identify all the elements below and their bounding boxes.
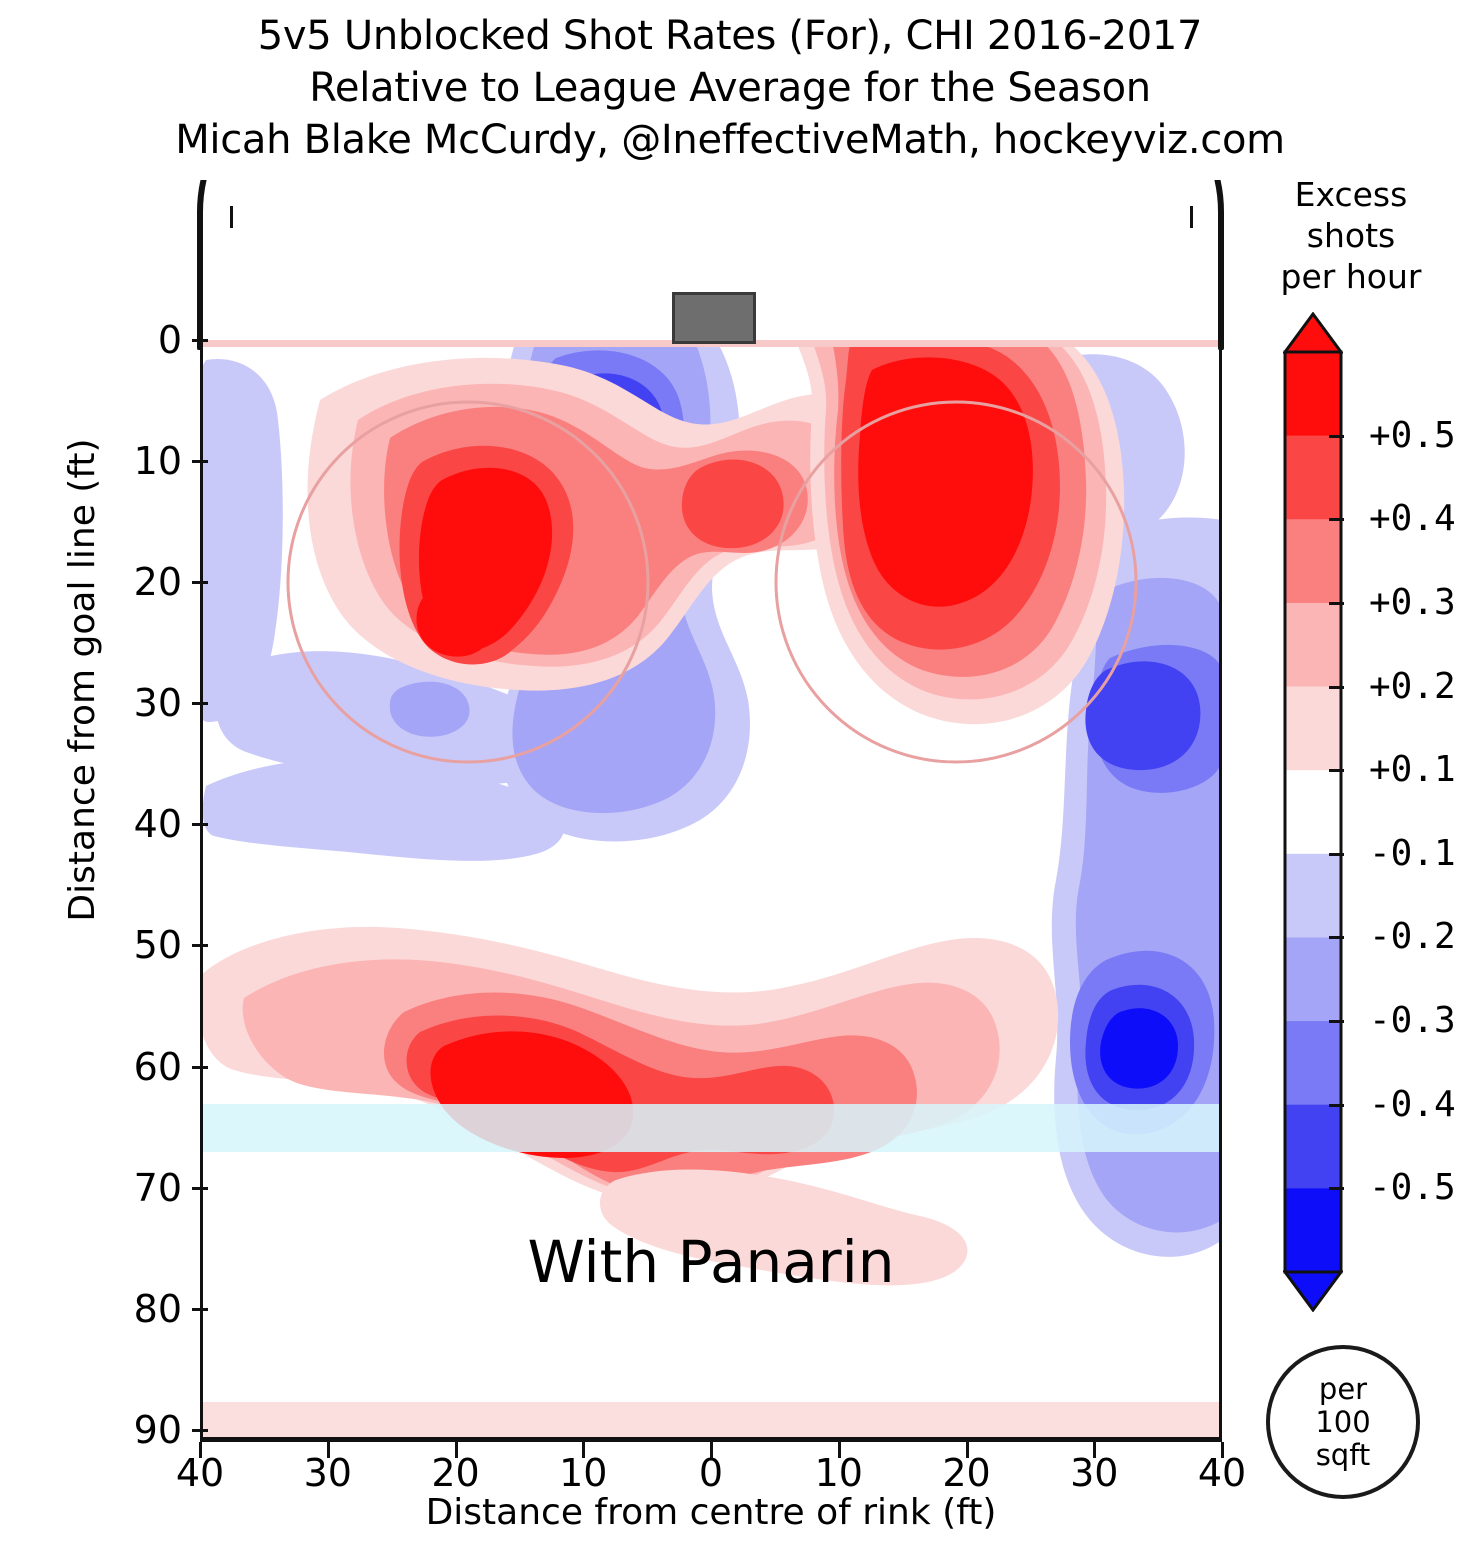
y-tick-mark <box>192 823 208 826</box>
y-tick-mark <box>192 460 208 463</box>
colorbar-band <box>1285 603 1341 687</box>
y-tick-label: 20 <box>120 563 182 601</box>
y-tick-label: 40 <box>120 805 182 843</box>
y-tick-mark <box>192 1187 208 1190</box>
colorbar-title: Excess shots per hour <box>1242 174 1460 297</box>
x-tick-mark <box>1221 1442 1224 1458</box>
badge-line1: per <box>1319 1373 1367 1406</box>
colorbar-band <box>1285 352 1341 436</box>
colorbar-extend-high <box>1285 314 1341 352</box>
colorbar-swatches <box>1283 312 1343 1312</box>
chart-title-line2: Relative to League Average for the Seaso… <box>0 62 1460 114</box>
colorbar-band <box>1285 1105 1341 1189</box>
colorbar-tick-label: +0.2 <box>1369 669 1456 705</box>
badge-line2: 100 <box>1315 1406 1370 1439</box>
x-tick-mark <box>1093 1442 1096 1458</box>
y-tick-label: 0 <box>120 321 182 359</box>
chart-title-block: 5v5 Unblocked Shot Rates (For), CHI 2016… <box>0 10 1460 166</box>
colorbar-title-line3: per hour <box>1242 256 1460 297</box>
y-tick-label: 80 <box>120 1290 182 1328</box>
x-tick-label: 10 <box>799 1454 879 1492</box>
y-tick-label: 90 <box>120 1411 182 1449</box>
colorbar-tick-label: +0.5 <box>1369 418 1456 454</box>
colorbar-title-line2: shots <box>1242 215 1460 256</box>
colorbar-band <box>1285 687 1341 771</box>
colorbar-tick-label: -0.3 <box>1369 1003 1456 1039</box>
colorbar-band <box>1285 436 1341 520</box>
contour-pos-4 <box>682 460 784 549</box>
y-tick-mark <box>192 339 208 342</box>
colorbar-tick-mark <box>1329 1187 1344 1190</box>
y-tick-mark <box>192 702 208 705</box>
colorbar-tick-mark <box>1329 686 1344 689</box>
colorbar-tick-mark <box>1329 1104 1344 1107</box>
colorbar-title-line1: Excess <box>1242 174 1460 215</box>
colorbar-tick-label: +0.4 <box>1369 501 1456 537</box>
x-tick-label: 40 <box>160 1454 240 1492</box>
colorbar-tick-mark <box>1329 518 1344 521</box>
per-100-sqft-badge: per 100 sqft <box>1266 1345 1420 1499</box>
y-tick-mark <box>192 944 208 947</box>
x-tick-label: 40 <box>1182 1454 1262 1492</box>
badge-line3: sqft <box>1316 1439 1371 1472</box>
colorbar: +0.5+0.4+0.3+0.2+0.1-0.1-0.2-0.3-0.4-0.5 <box>1283 312 1343 1316</box>
board-tick-left <box>230 206 233 228</box>
colorbar-tick-mark <box>1329 769 1344 772</box>
y-tick-label: 60 <box>120 1048 182 1086</box>
x-tick-mark <box>455 1442 458 1458</box>
blue-line <box>200 1104 1222 1152</box>
y-tick-mark <box>192 1429 208 1432</box>
colorbar-tick-label: -0.1 <box>1369 836 1456 872</box>
colorbar-tick-mark <box>1329 435 1344 438</box>
x-tick-mark <box>582 1442 585 1458</box>
colorbar-tick-mark <box>1329 853 1344 856</box>
chart-title-line3: Micah Blake McCurdy, @IneffectiveMath, h… <box>0 114 1460 166</box>
contour-neg-14 <box>1085 661 1200 770</box>
y-tick-mark <box>192 1308 208 1311</box>
x-tick-label: 20 <box>927 1454 1007 1492</box>
colorbar-band <box>1285 854 1341 938</box>
y-tick-label: 50 <box>120 926 182 964</box>
contour-pos-7 <box>416 583 494 657</box>
colorbar-tick-label: -0.4 <box>1369 1087 1456 1123</box>
x-axis-label: Distance from centre of rink (ft) <box>200 1492 1222 1533</box>
board-tick-right <box>1190 206 1193 228</box>
colorbar-tick-label: -0.5 <box>1369 1170 1456 1206</box>
x-tick-label: 10 <box>543 1454 623 1492</box>
colorbar-tick-label: -0.2 <box>1369 919 1456 955</box>
y-axis-label: Distance from goal line (ft) <box>62 0 103 300</box>
colorbar-tick-mark <box>1329 602 1344 605</box>
x-tick-mark <box>710 1442 713 1458</box>
x-tick-mark <box>199 1442 202 1458</box>
colorbar-tick-label: +0.1 <box>1369 752 1456 788</box>
colorbar-band <box>1285 1188 1341 1272</box>
contour-neg-1c <box>390 682 470 737</box>
colorbar-tick-label: +0.3 <box>1369 585 1456 621</box>
contour-neg-13 <box>1100 1008 1178 1088</box>
x-tick-label: 0 <box>671 1454 751 1492</box>
colorbar-band <box>1285 937 1341 1021</box>
y-tick-mark <box>192 581 208 584</box>
y-tick-label: 30 <box>120 684 182 722</box>
y-tick-mark <box>192 1066 208 1069</box>
red-line <box>200 1402 1222 1442</box>
x-tick-mark <box>327 1442 330 1458</box>
colorbar-band <box>1285 1021 1341 1105</box>
x-tick-mark <box>838 1442 841 1458</box>
y-tick-label: 70 <box>120 1169 182 1207</box>
x-tick-label: 30 <box>1054 1454 1134 1492</box>
colorbar-band <box>1285 519 1341 603</box>
chart-title-line1: 5v5 Unblocked Shot Rates (For), CHI 2016… <box>0 10 1460 62</box>
plot-annotation: With Panarin <box>200 1228 1222 1296</box>
y-tick-label: 10 <box>120 442 182 480</box>
colorbar-extend-low <box>1285 1272 1341 1310</box>
goal-net <box>672 292 756 344</box>
x-tick-label: 30 <box>288 1454 368 1492</box>
colorbar-band <box>1285 770 1341 854</box>
x-tick-mark <box>966 1442 969 1458</box>
colorbar-tick-mark <box>1329 1020 1344 1023</box>
colorbar-tick-mark <box>1329 936 1344 939</box>
x-tick-label: 20 <box>416 1454 496 1492</box>
